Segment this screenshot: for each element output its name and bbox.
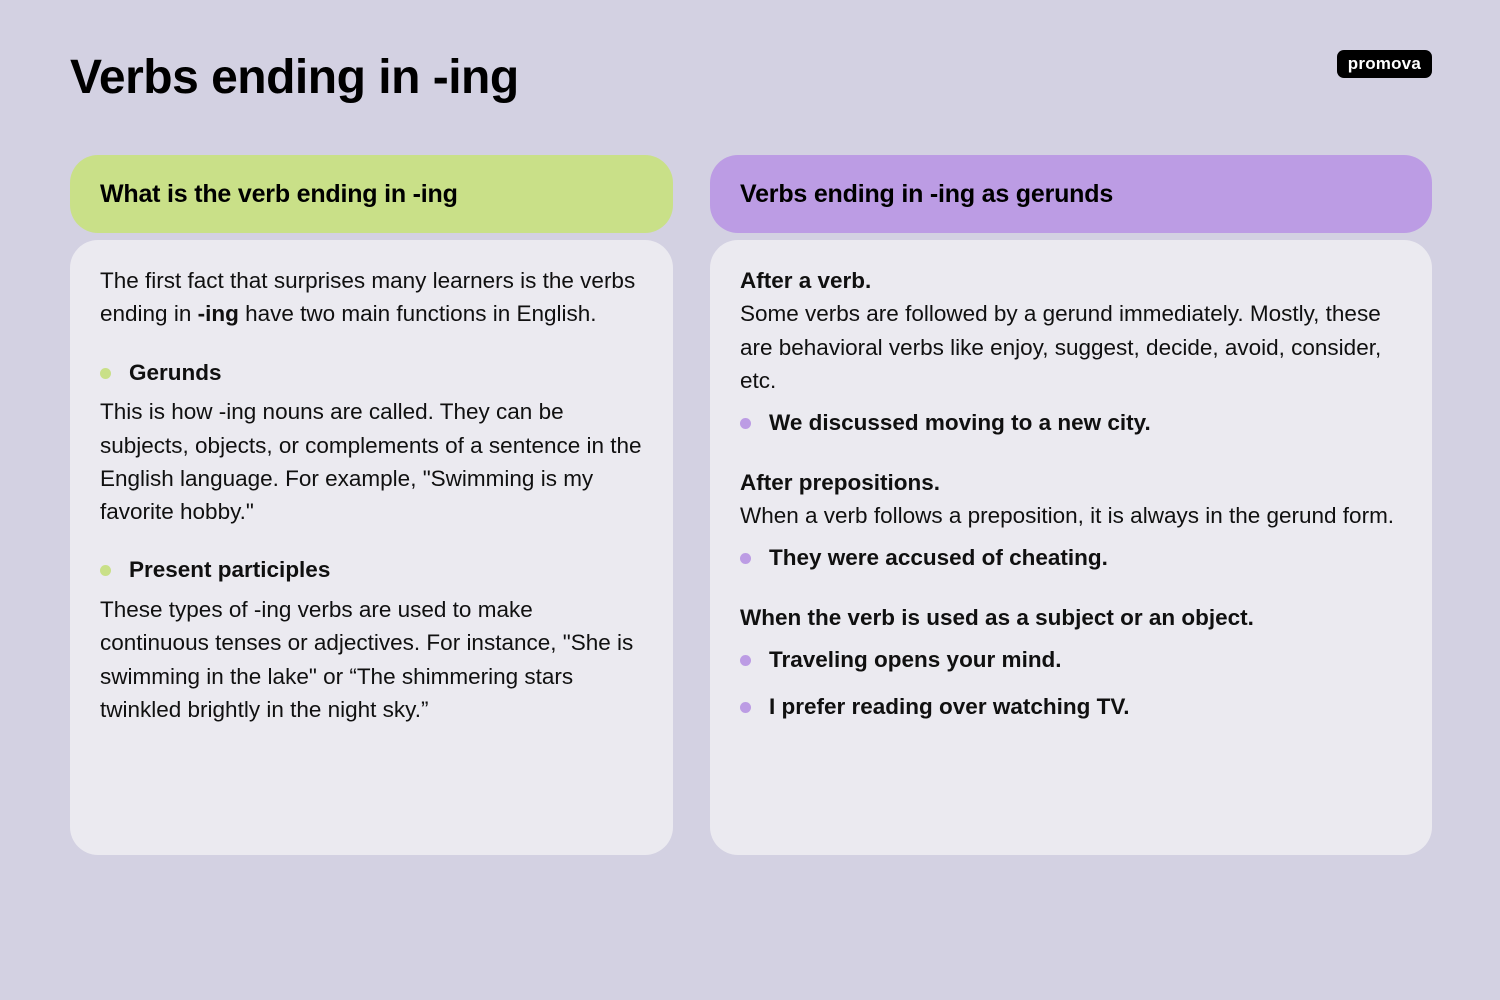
left-card-body: The first fact that surprises many learn… <box>70 240 673 855</box>
left-section-0-body: This is how -ing nouns are called. They … <box>100 395 643 528</box>
bullet-dot-icon <box>740 702 751 713</box>
page-title: Verbs ending in -ing <box>70 50 519 105</box>
right-section-2-example-0: Traveling opens your mind. <box>769 644 1062 677</box>
right-card: Verbs ending in -ing as gerunds After a … <box>710 155 1432 855</box>
right-section-1-lead: After prepositions. <box>740 466 1402 499</box>
right-card-header: Verbs ending in -ing as gerunds <box>710 155 1432 233</box>
left-section-0-label: Gerunds <box>129 357 222 390</box>
right-card-body: After a verb. Some verbs are followed by… <box>710 240 1432 855</box>
left-card: What is the verb ending in -ing The firs… <box>70 155 673 855</box>
cards-container: What is the verb ending in -ing The firs… <box>70 155 1432 855</box>
right-section-1-body: When a verb follows a preposition, it is… <box>740 499 1402 532</box>
left-card-header: What is the verb ending in -ing <box>70 155 673 233</box>
left-section-1-label: Present participles <box>129 554 330 587</box>
list-item: Traveling opens your mind. <box>740 644 1402 677</box>
bullet-dot-icon <box>740 553 751 564</box>
promova-logo: promova <box>1337 50 1432 78</box>
right-section-0-body: Some verbs are followed by a gerund imme… <box>740 297 1402 397</box>
list-item: Present participles <box>100 554 643 587</box>
bullet-dot-icon <box>740 655 751 666</box>
left-intro-bold: -ing <box>198 301 239 326</box>
right-section-0-example-0: We discussed moving to a new city. <box>769 407 1151 440</box>
left-section-1-body: These types of -ing verbs are used to ma… <box>100 593 643 726</box>
bullet-dot-icon <box>100 565 111 576</box>
list-item: I prefer reading over watching TV. <box>740 691 1402 724</box>
bullet-dot-icon <box>740 418 751 429</box>
bullet-dot-icon <box>100 368 111 379</box>
right-section-2-example-1: I prefer reading over watching TV. <box>769 691 1130 724</box>
right-section-2-lead: When the verb is used as a subject or an… <box>740 601 1402 634</box>
left-intro-after: have two main functions in English. <box>239 301 597 326</box>
list-item: They were accused of cheating. <box>740 542 1402 575</box>
left-intro-paragraph: The first fact that surprises many learn… <box>100 264 643 331</box>
list-item: Gerunds <box>100 357 643 390</box>
right-section-0-lead: After a verb. <box>740 264 1402 297</box>
list-item: We discussed moving to a new city. <box>740 407 1402 440</box>
right-section-1-example-0: They were accused of cheating. <box>769 542 1108 575</box>
